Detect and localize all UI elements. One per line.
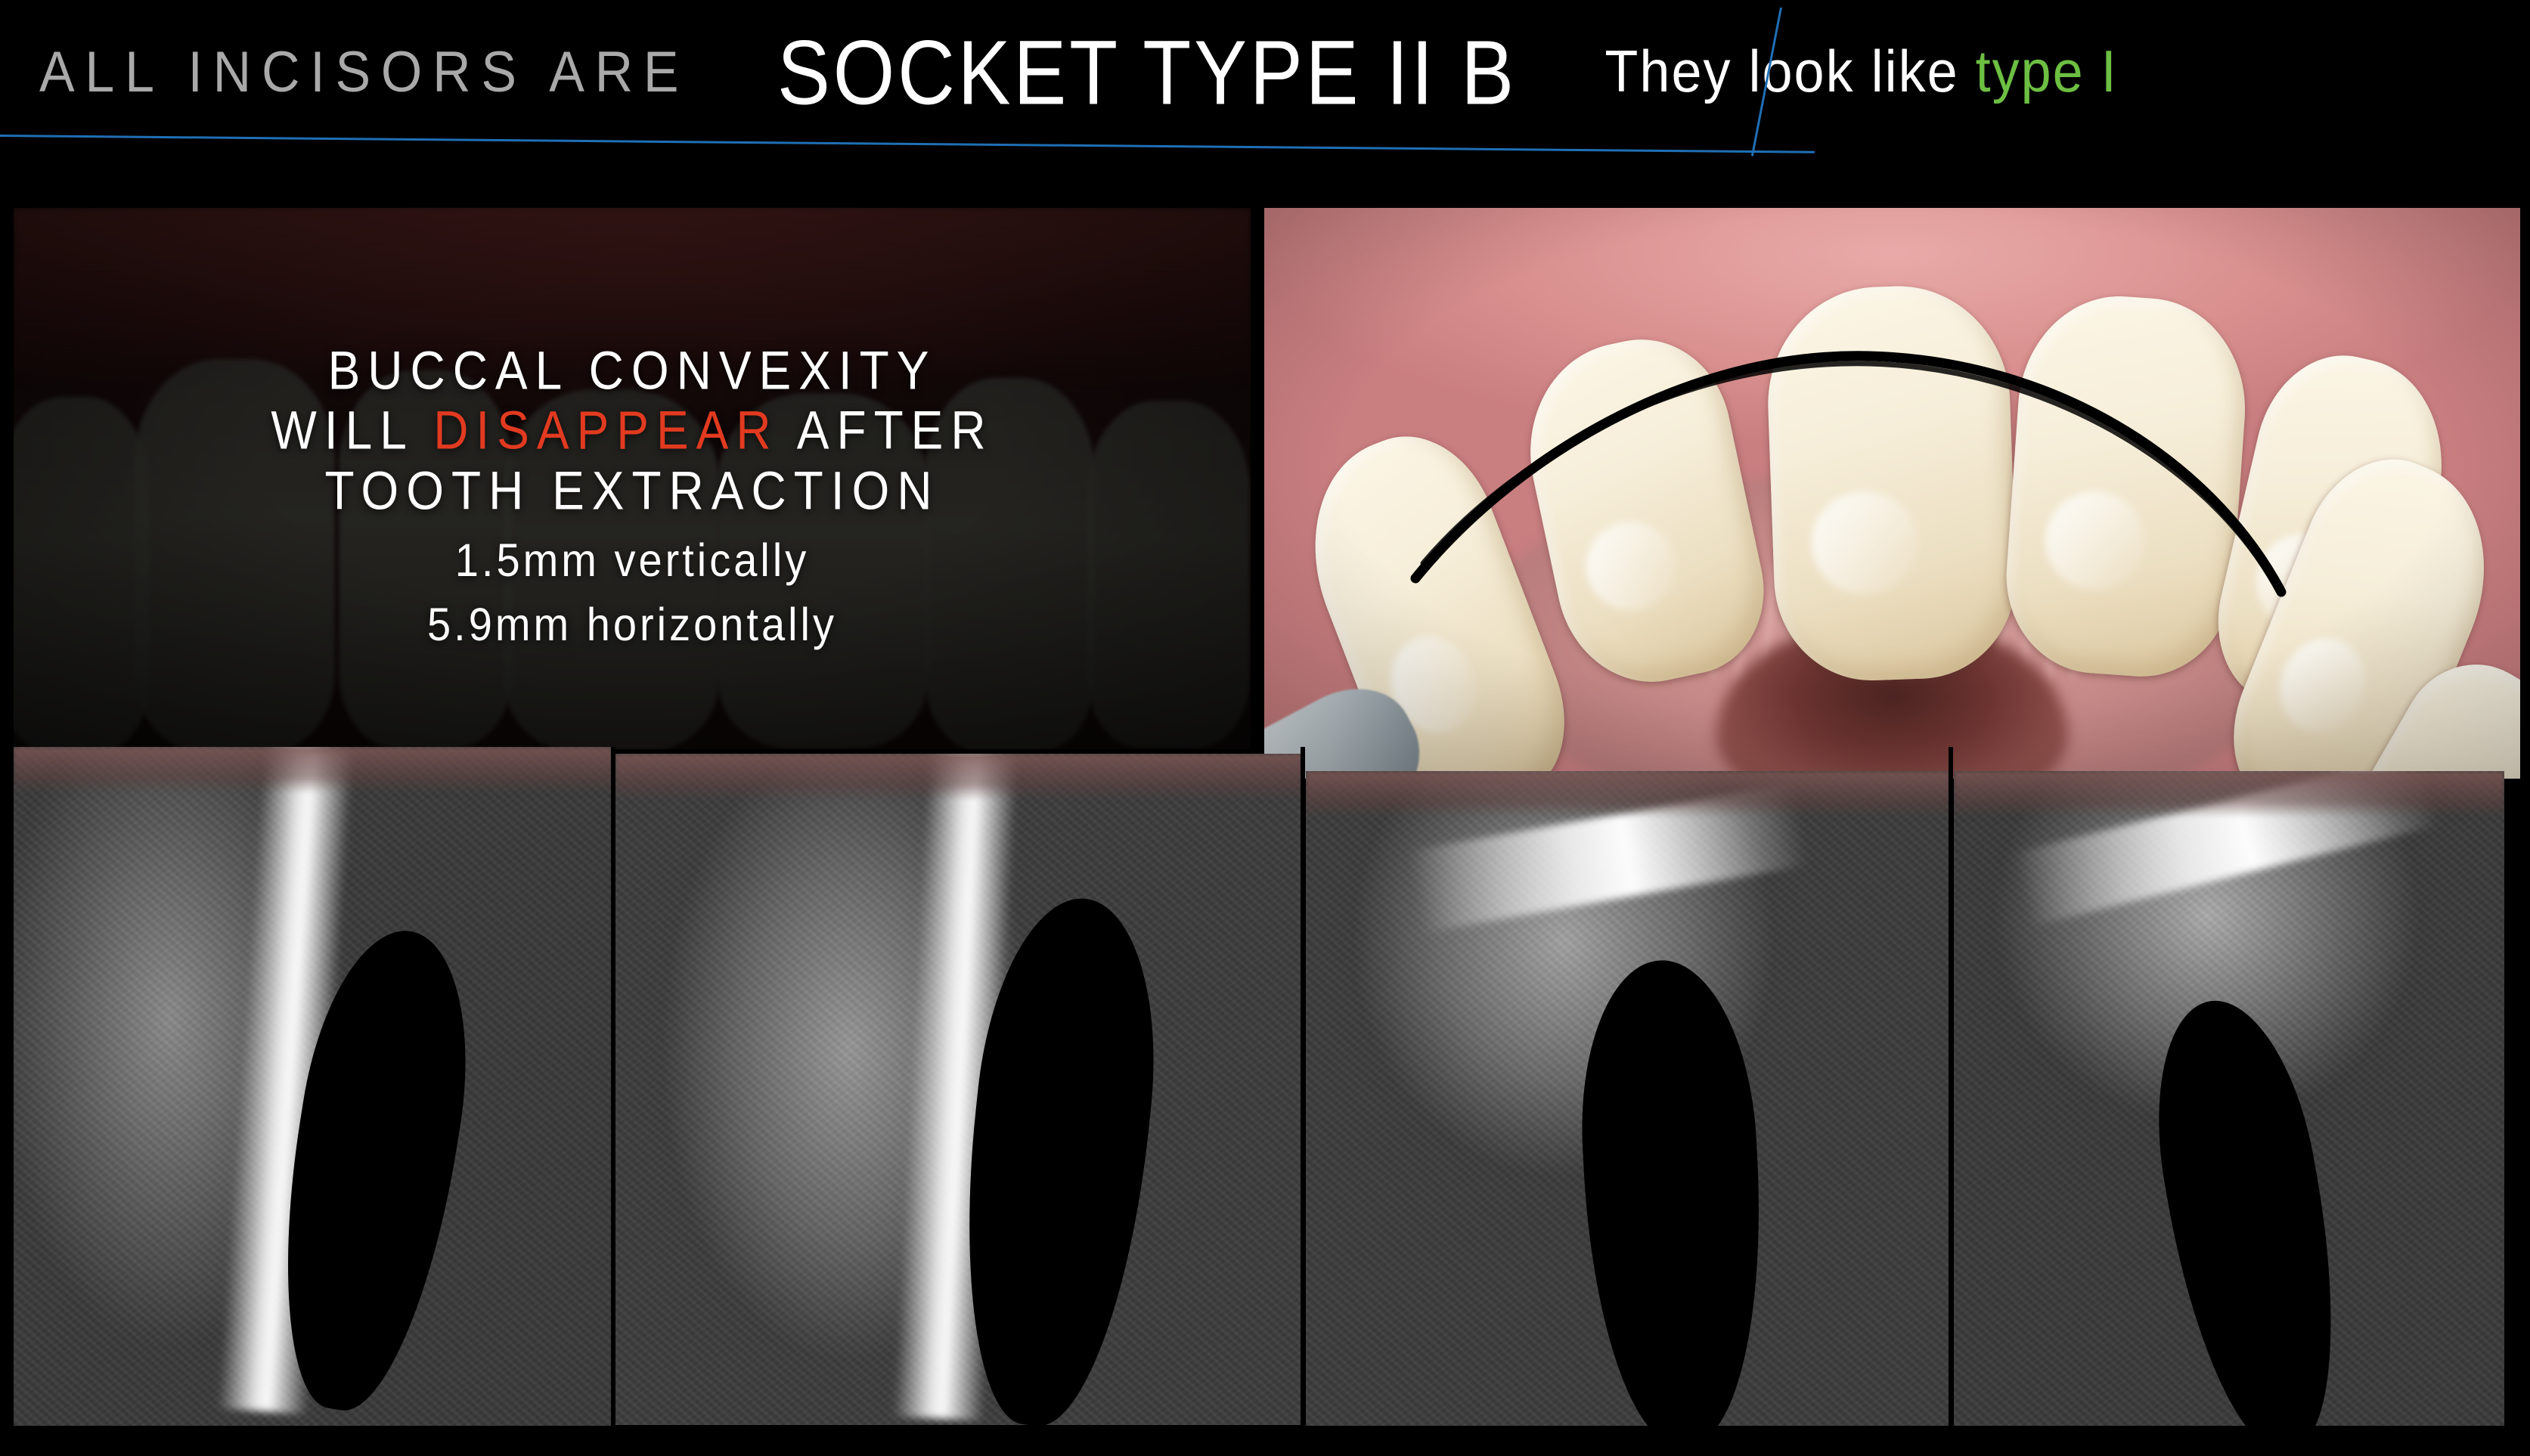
- slide-header: ALL INCISORS ARE SOCKET TYPE II B They l…: [0, 0, 2530, 172]
- occlusal-maxillary-photo: [1264, 208, 2520, 779]
- slice-separator: [1949, 747, 1953, 1427]
- cbct-slice-1: [14, 747, 612, 1426]
- caption-line-2-accent: DISAPPEAR: [433, 400, 778, 461]
- overlay-caption-block: BUCCAL CONVEXITY WILL DISAPPEAR AFTER TO…: [14, 208, 1251, 749]
- cbct-slice-2: [615, 754, 1302, 1425]
- slice-separator: [1301, 747, 1305, 1427]
- caption-line-2: WILL DISAPPEAR AFTER: [271, 398, 993, 465]
- header-prefix: ALL INCISORS ARE: [39, 39, 689, 105]
- slice-separator: [611, 747, 615, 1427]
- cbct-slice-3: [1306, 771, 1950, 1426]
- measurement-horizontal: 5.9mm horizontally: [427, 593, 837, 655]
- header-subtitle: They look like type I: [1605, 39, 2117, 106]
- slide-root: ALL INCISORS ARE SOCKET TYPE II B They l…: [0, 0, 2530, 1456]
- page-title: SOCKET TYPE II B: [777, 19, 1517, 125]
- caption-line-1: BUCCAL CONVEXITY: [328, 337, 937, 404]
- caption-line-3: TOOTH EXTRACTION: [324, 457, 939, 525]
- caption-line-2-pre: WILL: [271, 400, 433, 461]
- caption-line-2-post: AFTER: [779, 400, 994, 461]
- mucosa-band: [615, 754, 1302, 801]
- header-title-row: ALL INCISORS ARE SOCKET TYPE II B They l…: [0, 0, 2530, 144]
- photo-vignette: [1264, 208, 2520, 779]
- mucosa-band: [1954, 771, 2504, 818]
- cbct-slice-4: [1954, 771, 2504, 1426]
- header-subtitle-accent: type I: [1976, 39, 2118, 104]
- mucosa-band: [14, 747, 612, 794]
- mucosa-band: [1306, 771, 1950, 818]
- frontal-intraoral-photo: BUCCAL CONVEXITY WILL DISAPPEAR AFTER TO…: [14, 208, 1251, 749]
- measurement-vertical: 1.5mm vertically: [455, 528, 810, 591]
- header-subtitle-lead: They look like: [1605, 39, 1975, 104]
